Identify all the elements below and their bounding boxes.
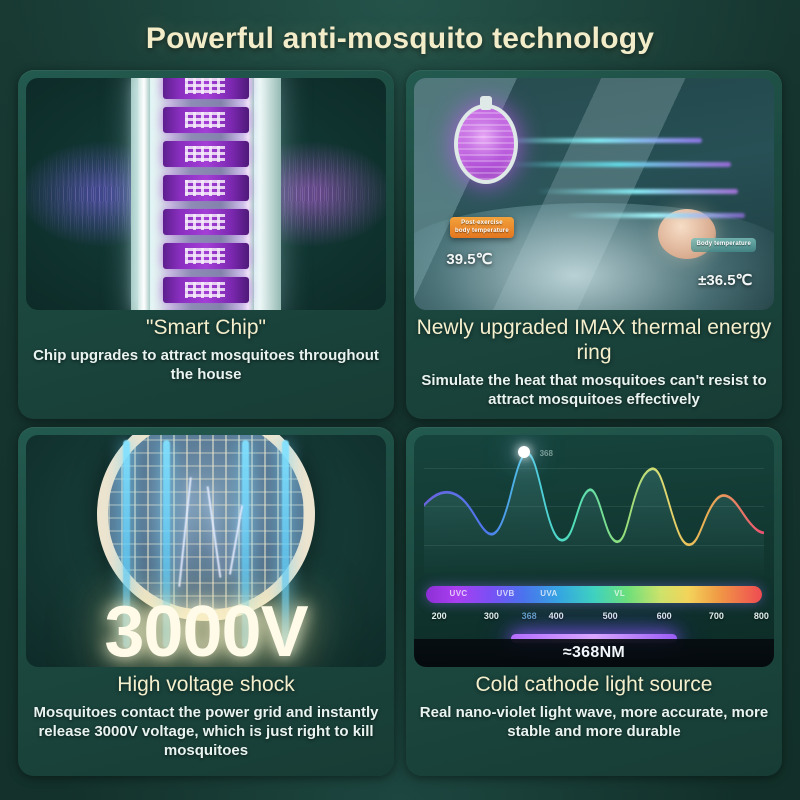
card-heading: Cold cathode light source — [416, 673, 772, 698]
infographic-page: Powerful anti-mosquito technology — [0, 0, 800, 800]
card-heading: Newly upgraded IMAX thermal energy ring — [416, 316, 772, 366]
band-label-vl: VL — [614, 589, 625, 598]
uv-chip — [163, 243, 249, 269]
post-exercise-badge: Post-exercise body temperature — [450, 217, 514, 238]
axis-tick: 200 — [432, 611, 447, 621]
wavelength-banner: ≈368NM — [414, 639, 774, 667]
axis-tick-highlight: 368 — [522, 611, 537, 621]
card-caption: "Smart Chip" Chip upgrades to attract mo… — [18, 310, 394, 419]
card-caption: Cold cathode light source Real nano-viol… — [406, 667, 782, 776]
spectrum-color-bar: UVC UVB UVA VL — [426, 586, 762, 603]
electric-racket-image: 3000V — [26, 435, 386, 667]
card-description: Chip upgrades to attract mosquitoes thro… — [28, 346, 384, 384]
axis-tick: 700 — [709, 611, 724, 621]
body-temperature-badge: Body temperature — [691, 238, 756, 252]
uv-chip — [163, 209, 249, 235]
feature-card-high-voltage[interactable]: 3000V High voltage shock Mosquitoes cont… — [18, 427, 394, 776]
feature-grid: "Smart Chip" Chip upgrades to attract mo… — [18, 70, 782, 776]
spectrum-curve — [424, 443, 764, 581]
uv-chip — [163, 78, 249, 99]
feature-card-cold-cathode[interactable]: 368 UVC UVB UVA VL 200 300 368 400 500 6… — [406, 427, 782, 776]
axis-tick: 800 — [754, 611, 769, 621]
baby-mosquito-net-image: Post-exercise body temperature 39.5℃ Bod… — [414, 78, 774, 310]
uv-chip — [163, 107, 249, 133]
axis-tick: 500 — [603, 611, 618, 621]
uv-chip — [163, 277, 249, 303]
band-label-uvb: UVB — [497, 589, 515, 598]
card-caption: Newly upgraded IMAX thermal energy ring … — [406, 310, 782, 419]
axis-tick: 400 — [549, 611, 564, 621]
feature-card-smart-chip[interactable]: "Smart Chip" Chip upgrades to attract mo… — [18, 70, 394, 419]
thermal-energy-ring-device — [454, 104, 518, 184]
wavelength-axis: 200 300 368 400 500 600 700 800 — [414, 611, 774, 625]
heat-wave-beam — [536, 189, 738, 194]
spectrum-chart-image: 368 UVC UVB UVA VL 200 300 368 400 500 6… — [414, 435, 774, 667]
card-description: Mosquitoes contact the power grid and in… — [28, 703, 384, 761]
voltage-overlay-text: 3000V — [26, 591, 386, 667]
peak-marker-dot — [518, 446, 530, 458]
feature-card-thermal-ring[interactable]: Post-exercise body temperature 39.5℃ Bod… — [406, 70, 782, 419]
card-description: Real nano-violet light wave, more accura… — [416, 703, 772, 741]
card-heading: "Smart Chip" — [28, 316, 384, 341]
body-temperature-value: ±36.5℃ — [698, 271, 752, 289]
post-exercise-temperature-value: 39.5℃ — [446, 250, 492, 268]
heat-wave-beam — [508, 162, 731, 167]
peak-marker-label: 368 — [540, 449, 553, 458]
card-heading: High voltage shock — [28, 673, 384, 698]
card-description: Simulate the heat that mosquitoes can't … — [416, 371, 772, 409]
heat-wave-beam — [493, 138, 702, 143]
uv-chip — [163, 141, 249, 167]
card-caption: High voltage shock Mosquitoes contact th… — [18, 667, 394, 776]
axis-tick: 600 — [657, 611, 672, 621]
heat-wave-beam — [565, 213, 745, 218]
chip-stack — [163, 78, 249, 310]
light-rail-left — [138, 78, 150, 310]
uv-chip — [163, 175, 249, 201]
spectrum-plot-area: 368 — [424, 443, 764, 581]
band-label-uva: UVA — [540, 589, 558, 598]
page-title: Powerful anti-mosquito technology — [18, 0, 782, 70]
uv-chip-array-image — [26, 78, 386, 310]
axis-tick: 300 — [484, 611, 499, 621]
band-label-uvc: UVC — [450, 589, 468, 598]
